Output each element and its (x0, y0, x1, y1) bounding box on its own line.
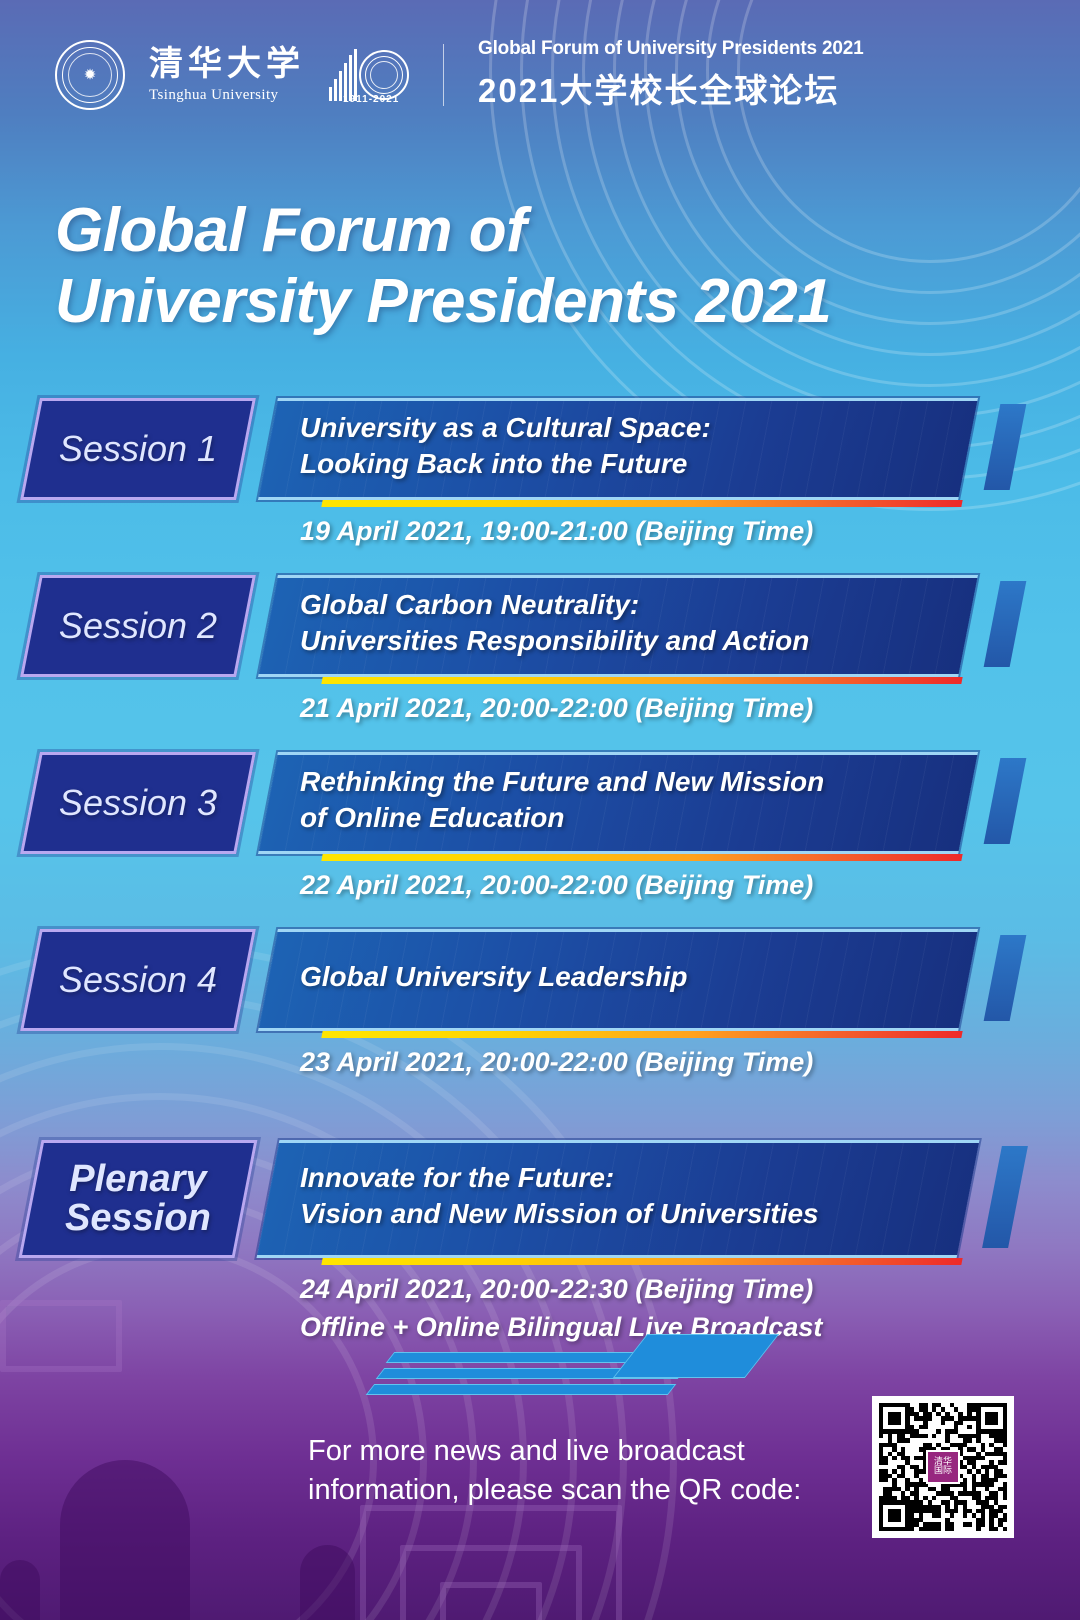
anniversary-years: 1911-2021 (343, 94, 399, 105)
page-title-line1: Global Forum of (55, 196, 831, 267)
header: ✹ 清华大学 Tsinghua University 1911-2021 Glo… (55, 38, 863, 112)
session-title-line2: Vision and New Mission of Universities (300, 1196, 960, 1232)
qr-code[interactable]: 清华 国际 (872, 1396, 1014, 1538)
session-gradient-rule (321, 1031, 962, 1038)
session-title-line1: Global University Leadership (300, 959, 960, 995)
forum-wordmark: Global Forum of University Presidents 20… (478, 38, 863, 112)
session-title: Innovate for the Future:Vision and New M… (300, 1140, 960, 1252)
session-date: 19 April 2021, 19:00-21:00 (Beijing Time… (300, 516, 813, 547)
session-title: Global University Leadership (300, 929, 960, 1025)
session-tag: Session 4 (20, 929, 256, 1031)
session-title-line2: Universities Responsibility and Action (300, 623, 960, 659)
session-title: Rethinking the Future and New Missionof … (300, 752, 960, 848)
session-slash-accent (984, 581, 1027, 667)
session-title-line1: Rethinking the Future and New Mission (300, 764, 960, 800)
session-tag-label: Session 1 (59, 431, 217, 468)
page-title: Global Forum of University Presidents 20… (55, 196, 831, 337)
footer-line2: information, please scan the QR code: (308, 1471, 801, 1510)
page-title-line2: University Presidents 2021 (55, 267, 831, 338)
decorative-ribbon (380, 1348, 780, 1408)
decorative-pill (300, 1545, 355, 1620)
session-title-line1: Innovate for the Future: (300, 1160, 960, 1196)
footer-instruction: For more news and live broadcast informa… (308, 1432, 801, 1511)
session-date: 22 April 2021, 20:00-22:00 (Beijing Time… (300, 870, 813, 901)
poster-root: ✹ 清华大学 Tsinghua University 1911-2021 Glo… (0, 0, 1080, 1620)
session-title-line1: University as a Cultural Space: (300, 410, 960, 446)
qr-logo-line2: 国际 (934, 1467, 952, 1476)
session-date: 23 April 2021, 20:00-22:00 (Beijing Time… (300, 1047, 813, 1078)
session-title-line1: Global Carbon Neutrality: (300, 587, 960, 623)
session-tag: Plenary Session (19, 1140, 258, 1258)
forum-name-en: Global Forum of University Presidents 20… (478, 38, 863, 60)
session-gradient-rule (321, 677, 962, 684)
anniversary-ring-icon (359, 50, 409, 100)
decorative-circuit (440, 1582, 542, 1620)
session-date: 24 April 2021, 20:00-22:30 (Beijing Time… (300, 1274, 813, 1305)
anniversary-110-logo: 1911-2021 (329, 49, 409, 101)
session-title-line2: of Online Education (300, 800, 960, 836)
qr-center-logo: 清华 国际 (926, 1450, 960, 1484)
forum-name-cn: 2021大学校长全球论坛 (478, 64, 863, 112)
decorative-pill (60, 1460, 190, 1620)
session-tag: Session 1 (20, 398, 256, 500)
session-title: Global Carbon Neutrality:Universities Re… (300, 575, 960, 671)
tsinghua-name-en: Tsinghua University (149, 88, 305, 103)
tsinghua-name-cn: 清华大学 (149, 48, 305, 82)
session-slash-accent (984, 758, 1027, 844)
header-divider (443, 44, 444, 106)
session-title-line2: Looking Back into the Future (300, 446, 960, 482)
session-gradient-rule (321, 500, 962, 507)
session-slash-accent (984, 404, 1027, 490)
footer-line1: For more news and live broadcast (308, 1432, 801, 1471)
session-tag-label: Session 2 (59, 608, 217, 645)
decorative-circuit (0, 1300, 122, 1372)
session-slash-accent (984, 935, 1027, 1021)
session-date: 21 April 2021, 20:00-22:00 (Beijing Time… (300, 693, 813, 724)
session-tag-label: Session 4 (59, 962, 217, 999)
tsinghua-seal-icon: ✹ (55, 40, 125, 110)
session-tag: Session 3 (20, 752, 256, 854)
decorative-pill (0, 1560, 40, 1620)
session-gradient-rule (321, 854, 962, 861)
session-tag-label: Session 3 (59, 785, 217, 822)
tsinghua-wordmark: 清华大学 Tsinghua University (149, 48, 305, 103)
session-title: University as a Cultural Space:Looking B… (300, 398, 960, 494)
session-slash-accent (982, 1146, 1028, 1248)
session-tag: Session 2 (20, 575, 256, 677)
session-tag-label: Plenary Session (65, 1160, 211, 1238)
session-gradient-rule (321, 1258, 962, 1265)
